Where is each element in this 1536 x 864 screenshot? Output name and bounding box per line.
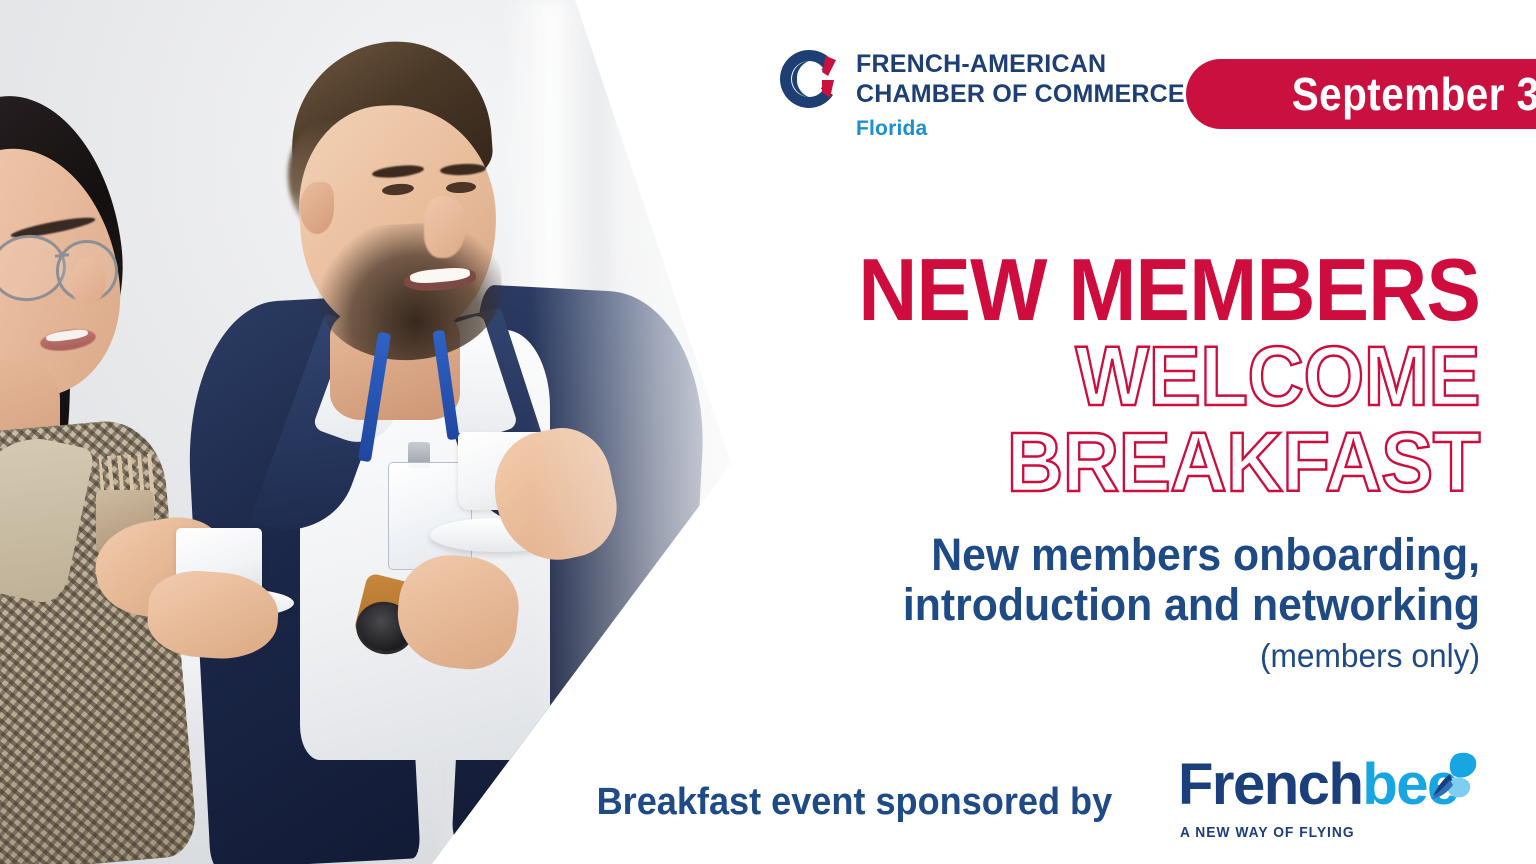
subtitle-line-1: New members onboarding, xyxy=(777,530,1480,580)
fachamber-logo-text: FRENCH-AMERICAN CHAMBER OF COMMERCE Flor… xyxy=(856,46,1185,141)
event-flyer: FRENCH-AMERICAN CHAMBER OF COMMERCE Flor… xyxy=(0,0,1536,864)
cci-monogram-icon xyxy=(778,46,840,112)
frenchbee-tagline: A NEW WAY OF FLYING xyxy=(1180,824,1355,841)
frenchbee-word-french: French xyxy=(1178,752,1362,817)
event-date-label: September 3rd xyxy=(1291,67,1536,121)
members-only-note: (members only) xyxy=(770,637,1480,675)
sponsor-label: Breakfast event sponsored by xyxy=(597,781,1113,824)
headline-line-2: WELCOME xyxy=(792,334,1480,418)
subtitle-line-2: introduction and networking xyxy=(777,580,1480,630)
logo-chapter: Florida xyxy=(856,117,1185,141)
event-date-badge[interactable]: September 3rd xyxy=(1186,59,1536,129)
butterfly-icon xyxy=(1400,750,1478,812)
frenchbee-logo[interactable]: Frenchbee A NEW WAY OF FLYING xyxy=(1170,750,1480,854)
fachamber-logo[interactable]: FRENCH-AMERICAN CHAMBER OF COMMERCE Flor… xyxy=(778,46,1185,141)
logo-line-1: FRENCH-AMERICAN xyxy=(856,50,1185,80)
logo-line-2: CHAMBER OF COMMERCE xyxy=(856,80,1185,110)
headline-line-3: BREAKFAST xyxy=(792,420,1480,504)
event-description: New members onboarding, introduction and… xyxy=(740,530,1480,675)
event-photo xyxy=(0,0,760,864)
headline-line-1: NEW MEMBERS xyxy=(792,248,1480,332)
sponsor-section: Breakfast event sponsored by Frenchbee A… xyxy=(600,752,1480,852)
man-ear xyxy=(300,182,334,234)
page-title: NEW MEMBERS WELCOME BREAKFAST xyxy=(740,248,1480,504)
woman-nose xyxy=(72,258,106,304)
